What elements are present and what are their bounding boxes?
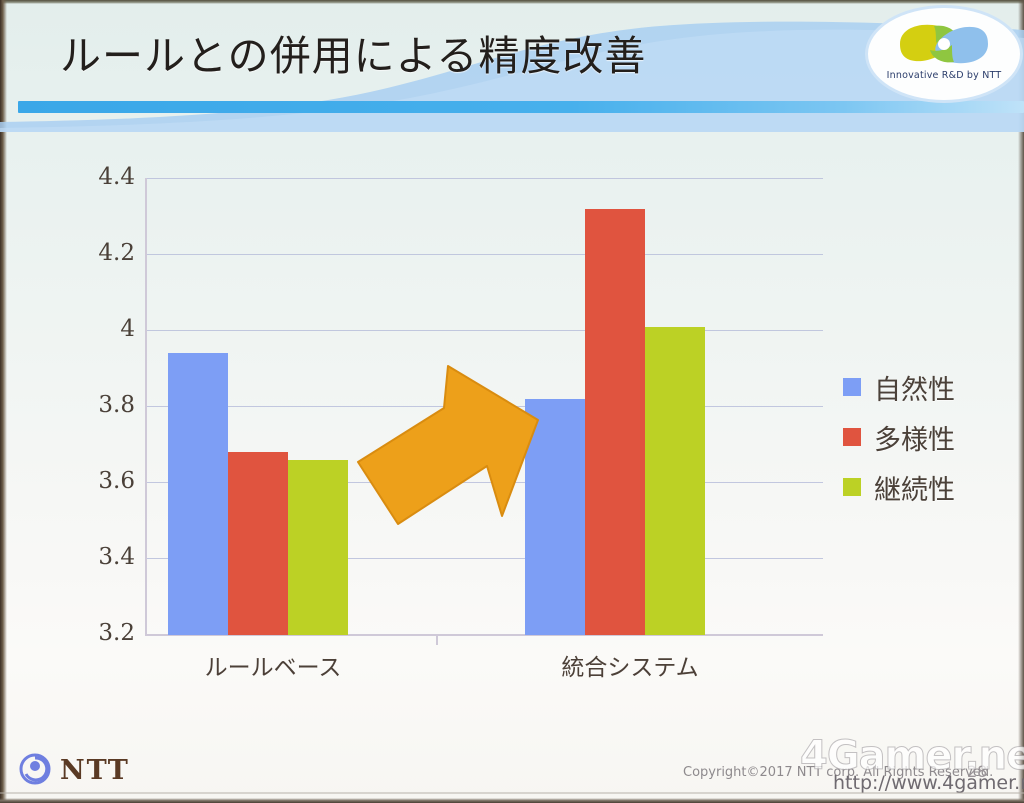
page-title: ルールとの併用による精度改善: [60, 22, 646, 82]
ntt-rd-logo-icon: [890, 16, 998, 72]
x-axis-label-group1: ルールベース: [138, 648, 408, 682]
presentation-slide: ルールとの併用による精度改善 Innovative R&D by NTT 4.4…: [0, 0, 1024, 803]
legend-label-naturalness: 自然性: [874, 368, 955, 407]
ntt-wordmark: NTT: [60, 755, 130, 786]
slide-edge-bottom: [0, 798, 1024, 803]
bar-integrated-diversity: [585, 209, 645, 636]
bar-chart: 4.4 4.2 4 3.8 3.6 3.4 3.2 ルールベース 統合システム: [0, 140, 1024, 700]
bar-rule-based-continuity: [288, 460, 348, 635]
improvement-arrow-icon: [352, 358, 552, 533]
x-axis-label-group2: 統合システム: [495, 648, 765, 682]
ntt-spiral-logo-icon: [18, 752, 52, 786]
legend-swatch-icon-continuity: [843, 478, 861, 496]
logo-caption: Innovative R&D by NTT: [868, 70, 1020, 81]
legend-item-diversity: 多様性: [843, 412, 955, 462]
legend-item-naturalness: 自然性: [843, 362, 955, 412]
x-axis-center-tick: [436, 634, 438, 645]
legend-item-continuity: 継続性: [843, 462, 955, 512]
site-watermark-url: http://www.4gamer.net/: [833, 772, 1024, 794]
legend-swatch-icon-diversity: [843, 428, 861, 446]
legend-label-diversity: 多様性: [874, 418, 955, 457]
chart-legend: 自然性 多様性 継続性: [843, 362, 955, 512]
footer-divider: [0, 792, 1024, 794]
title-underline-bar: [18, 101, 1024, 113]
legend-swatch-icon-naturalness: [843, 378, 861, 396]
bar-integrated-continuity: [645, 327, 705, 636]
legend-label-continuity: 継続性: [874, 468, 955, 507]
bar-rule-based-naturalness: [168, 353, 228, 635]
bar-rule-based-diversity: [228, 452, 288, 635]
